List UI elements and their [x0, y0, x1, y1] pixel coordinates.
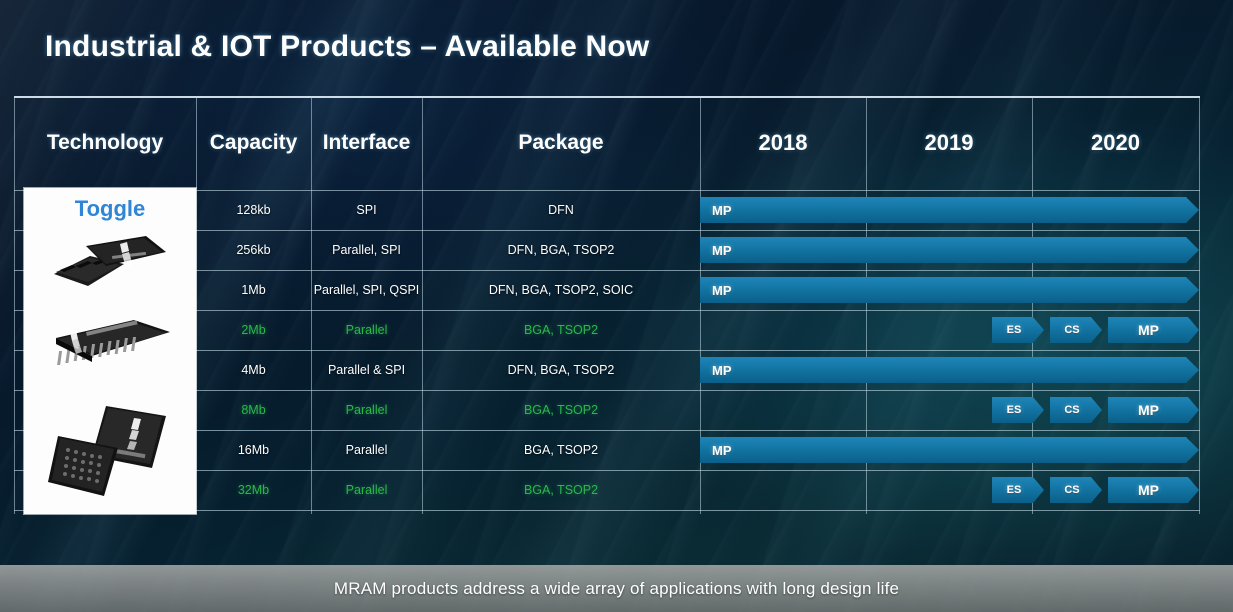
header-capacity: Capacity: [196, 96, 311, 190]
cell-capacity: 8Mb: [196, 390, 311, 430]
technology-cell-panel: Toggle: [24, 188, 196, 514]
timeline-seg-cs[interactable]: CS: [1050, 317, 1102, 343]
cell-package: DFN, BGA, TSOP2: [422, 350, 700, 390]
header-year-2019: 2019: [866, 96, 1032, 190]
footer-banner: MRAM products address a wide array of ap…: [0, 565, 1233, 612]
timeline-seg-label: CS: [1050, 484, 1102, 496]
product-roadmap-table: Technology Capacity Interface Package 20…: [14, 96, 1200, 514]
cell-interface: Parallel: [311, 470, 422, 510]
timeline-seg-mp[interactable]: MP: [1108, 477, 1199, 503]
cell-interface: SPI: [311, 190, 422, 230]
timeline-seg-mp[interactable]: MP: [1108, 317, 1199, 343]
timeline-seg-es[interactable]: ES: [992, 397, 1044, 423]
cell-interface: Parallel, SPI, QSPI: [311, 270, 422, 310]
cell-interface: Parallel: [311, 430, 422, 470]
cell-interface: Parallel: [311, 310, 422, 350]
timeline-bar-label: MP: [712, 443, 732, 458]
cell-package: DFN, BGA, TSOP2, SOIC: [422, 270, 700, 310]
header-year-2020: 2020: [1032, 96, 1199, 190]
timeline-bar-label: MP: [712, 283, 732, 298]
timeline-seg-cs[interactable]: CS: [1050, 397, 1102, 423]
mram-bga-chip-photo: [48, 400, 178, 505]
cell-package: DFN: [422, 190, 700, 230]
timeline-bar-mp[interactable]: MP: [700, 277, 1199, 303]
timeline-seg-label: ES: [992, 484, 1044, 496]
cell-package: BGA, TSOP2: [422, 390, 700, 430]
cell-capacity: 1Mb: [196, 270, 311, 310]
timeline-seg-es[interactable]: ES: [992, 477, 1044, 503]
technology-toggle-label: Toggle: [24, 196, 196, 222]
cell-capacity: 4Mb: [196, 350, 311, 390]
cell-capacity: 32Mb: [196, 470, 311, 510]
slide-canvas: Industrial & IOT Products – Available No…: [0, 0, 1233, 612]
mram-dfn-chip-photo: [50, 234, 170, 301]
cell-package: BGA, TSOP2: [422, 470, 700, 510]
timeline-seg-label: MP: [1108, 482, 1199, 498]
timeline-seg-mp[interactable]: MP: [1108, 397, 1199, 423]
cell-package: BGA, TSOP2: [422, 430, 700, 470]
timeline-bar-label: MP: [712, 243, 732, 258]
cell-capacity: 256kb: [196, 230, 311, 270]
cell-package: BGA, TSOP2: [422, 310, 700, 350]
timeline-seg-label: MP: [1108, 402, 1199, 418]
timeline-seg-label: ES: [992, 324, 1044, 336]
header-year-2018: 2018: [700, 96, 866, 190]
col-rule-right: [1199, 96, 1200, 514]
timeline-bar-mp[interactable]: MP: [700, 357, 1199, 383]
footer-note: MRAM products address a wide array of ap…: [334, 579, 899, 599]
slide-title: Industrial & IOT Products – Available No…: [45, 30, 649, 64]
timeline-seg-label: MP: [1108, 322, 1199, 338]
cell-interface: Parallel: [311, 390, 422, 430]
timeline-seg-label: ES: [992, 404, 1044, 416]
timeline-seg-cs[interactable]: CS: [1050, 477, 1102, 503]
timeline-bar-label: MP: [712, 203, 732, 218]
cell-package: DFN, BGA, TSOP2: [422, 230, 700, 270]
cell-interface: Parallel & SPI: [311, 350, 422, 390]
cell-interface: Parallel, SPI: [311, 230, 422, 270]
mram-tsop-chip-photo: [48, 316, 176, 391]
cell-capacity: 2Mb: [196, 310, 311, 350]
header-interface: Interface: [311, 96, 422, 190]
timeline-bar-mp[interactable]: MP: [700, 437, 1199, 463]
timeline-seg-es[interactable]: ES: [992, 317, 1044, 343]
cell-capacity: 128kb: [196, 190, 311, 230]
timeline-bar-mp[interactable]: MP: [700, 237, 1199, 263]
timeline-bar-label: MP: [712, 363, 732, 378]
timeline-seg-label: CS: [1050, 404, 1102, 416]
timeline-bar-mp[interactable]: MP: [700, 197, 1199, 223]
header-package: Package: [422, 96, 700, 190]
timeline-seg-label: CS: [1050, 324, 1102, 336]
header-technology: Technology: [14, 96, 196, 190]
cell-capacity: 16Mb: [196, 430, 311, 470]
